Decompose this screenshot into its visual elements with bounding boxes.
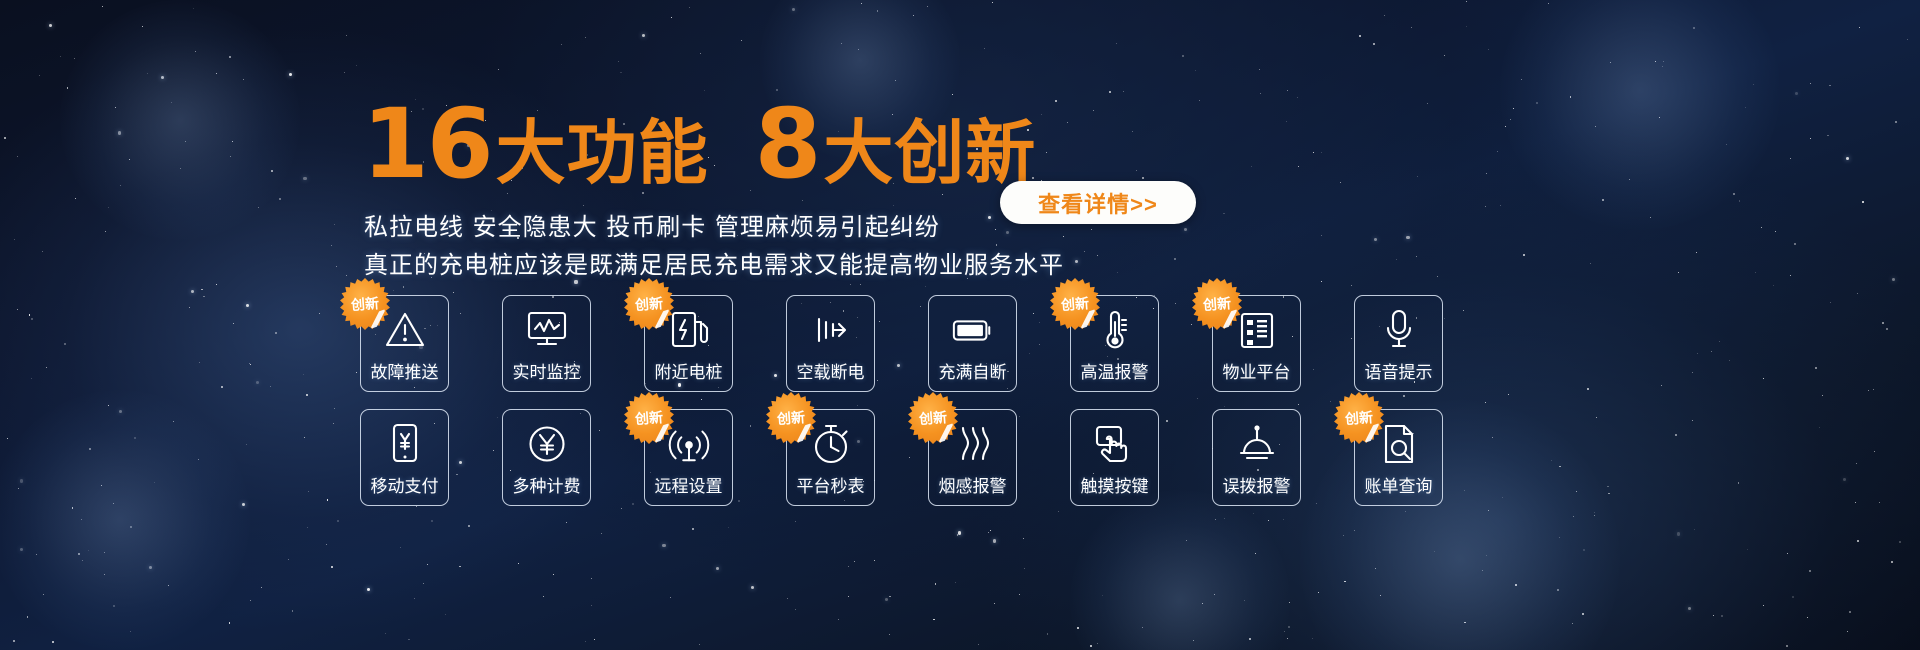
feature-row-2: 移动支付多种计费创新远程设置创新平台秒表创新烟感报警触摸按键误拨报警创新账单查询 xyxy=(352,409,1572,517)
feature-tile[interactable]: 充满自断 xyxy=(928,295,1017,392)
wireless-signal-icon xyxy=(667,422,711,466)
subtitle-line-2: 真正的充电桩应该是既满足居民充电需求又能提高物业服务水平 xyxy=(364,246,1064,284)
feature-tile-label: 远程设置 xyxy=(655,472,723,497)
subtitle-block: 私拉电线 安全隐患大 投币刷卡 管理麻烦易引起纠纷 真正的充电桩应该是既满足居民… xyxy=(364,208,1064,284)
feature-tile-label: 多种计费 xyxy=(513,472,581,497)
feature-tile[interactable]: 创新远程设置 xyxy=(644,409,733,506)
feature-tile[interactable]: 创新高温报警 xyxy=(1070,295,1159,392)
monitor-waveform-icon xyxy=(525,308,569,352)
headline-word-innovations: 大创新 xyxy=(823,118,1036,188)
warning-triangle-icon xyxy=(383,308,427,352)
feature-tile-label: 触摸按键 xyxy=(1081,472,1149,497)
battery-full-icon xyxy=(951,308,995,352)
thermometer-icon xyxy=(1093,308,1137,352)
bill-search-icon xyxy=(1377,422,1421,466)
feature-tile[interactable]: 创新平台秒表 xyxy=(786,409,875,506)
feature-tile[interactable]: 创新烟感报警 xyxy=(928,409,1017,506)
feature-tile-label: 账单查询 xyxy=(1365,472,1433,497)
feature-tile[interactable]: 语音提示 xyxy=(1354,295,1443,392)
feature-tile-label: 空载断电 xyxy=(797,358,865,383)
feature-tile[interactable]: 多种计费 xyxy=(502,409,591,506)
feature-tile-label: 平台秒表 xyxy=(797,472,865,497)
headline-word-functions: 大功能 xyxy=(496,118,709,188)
feature-tile[interactable]: 创新账单查询 xyxy=(1354,409,1443,506)
charging-station-icon xyxy=(667,308,711,352)
feature-tile[interactable]: 触摸按键 xyxy=(1070,409,1159,506)
page-title: 16 大功能 8 大创新 xyxy=(362,96,1036,192)
feature-tile-label: 物业平台 xyxy=(1223,358,1291,383)
feature-tile-label: 烟感报警 xyxy=(939,472,1007,497)
feature-tile[interactable]: 误拨报警 xyxy=(1212,409,1301,506)
feature-tile-label: 高温报警 xyxy=(1081,358,1149,383)
feature-tile[interactable]: 实时监控 xyxy=(502,295,591,392)
building-icon xyxy=(1235,308,1279,352)
feature-tile-label: 充满自断 xyxy=(939,358,1007,383)
feature-row-1: 创新故障推送实时监控创新附近电桩空载断电充满自断创新高温报警创新物业平台语音提示 xyxy=(352,295,1572,403)
headline-number-8: 8 xyxy=(755,96,820,192)
view-details-button[interactable]: 查看详情>> xyxy=(1000,181,1196,224)
yuan-coin-icon xyxy=(525,422,569,466)
feature-tile[interactable]: 创新附近电桩 xyxy=(644,295,733,392)
promo-banner: 16 大功能 8 大创新 私拉电线 安全隐患大 投币刷卡 管理麻烦易引起纠纷 真… xyxy=(0,0,1920,650)
feature-grid: 创新故障推送实时监控创新附近电桩空载断电充满自断创新高温报警创新物业平台语音提示… xyxy=(352,295,1572,523)
feature-tile-label: 附近电桩 xyxy=(655,358,723,383)
feature-tile[interactable]: 创新故障推送 xyxy=(360,295,449,392)
feature-tile[interactable]: 空载断电 xyxy=(786,295,875,392)
feature-tile-label: 故障推送 xyxy=(371,358,439,383)
touch-hand-icon xyxy=(1093,422,1137,466)
mobile-payment-icon xyxy=(383,422,427,466)
feature-tile-label: 误拨报警 xyxy=(1223,472,1291,497)
smoke-detector-icon xyxy=(951,422,995,466)
subtitle-line-1: 私拉电线 安全隐患大 投币刷卡 管理麻烦易引起纠纷 xyxy=(364,208,1064,246)
stopwatch-icon xyxy=(809,422,853,466)
feature-tile-label: 语音提示 xyxy=(1365,358,1433,383)
feature-tile[interactable]: 移动支付 xyxy=(360,409,449,506)
feature-tile-label: 实时监控 xyxy=(513,358,581,383)
feature-tile-label: 移动支付 xyxy=(371,472,439,497)
alarm-bell-icon xyxy=(1235,422,1279,466)
feature-tile[interactable]: 创新物业平台 xyxy=(1212,295,1301,392)
plug-disconnect-icon xyxy=(809,308,853,352)
microphone-icon xyxy=(1377,308,1421,352)
headline-number-16: 16 xyxy=(362,96,492,192)
